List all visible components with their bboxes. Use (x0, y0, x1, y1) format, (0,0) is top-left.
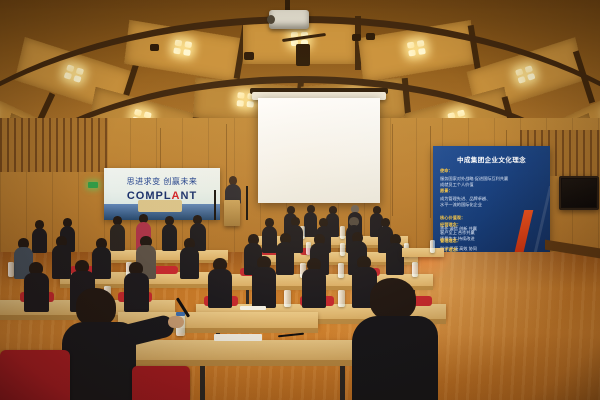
table-row (402, 248, 444, 257)
culture-philosophy-banner: 中成集团企业文化理念 使命： 服务国家对外战略 促进国际互利共赢 成就员工个人价… (433, 146, 550, 256)
banner-block: 愿景： 成为管理先进、品牌卓越、 水平一流的国际化企业 (440, 188, 545, 208)
ceiling-spotlight (366, 33, 375, 40)
ceiling-spotlight (244, 52, 254, 60)
attendee (252, 256, 276, 306)
notebook (214, 334, 262, 341)
complant-banner: 思进求变 创赢未来 COMPLANT (104, 168, 220, 220)
microphone-stand (214, 190, 216, 220)
logo-part-2: NT (181, 190, 198, 202)
table-row (130, 340, 360, 360)
block-heading: 愿景： (440, 188, 545, 194)
chair (132, 366, 190, 400)
attendee (208, 258, 232, 306)
water-bottle (412, 262, 418, 277)
table-leg (340, 366, 345, 400)
water-bottle (284, 290, 291, 307)
block-heading: 核心价值观： (440, 215, 465, 221)
attendee (32, 220, 47, 252)
ceiling-speaker (296, 44, 310, 66)
projection-screen (258, 98, 380, 203)
attendee (302, 258, 326, 306)
attendee (24, 262, 49, 310)
attendee-hand (168, 316, 184, 328)
water-bottle (340, 226, 345, 239)
attendee (262, 218, 277, 252)
acoustic-slat-panel-left (0, 118, 108, 172)
wall-seam (392, 124, 393, 216)
attendee (180, 238, 199, 278)
table-leg (200, 366, 205, 400)
attendee-foreground-right (352, 278, 438, 400)
auditorium-photo: 思进求变 创赢未来 COMPLANT 中成集团企业文化理念 使命： 服务国家对外… (0, 0, 600, 400)
water-bottle (340, 243, 345, 256)
attendee (52, 236, 71, 278)
monitor-screen (562, 179, 596, 207)
banner-title: 中成集团企业文化理念 (433, 154, 550, 164)
projector-lens (267, 15, 275, 24)
water-bottle (430, 240, 435, 253)
banner-photo-element (138, 200, 182, 212)
banner-block: 使命： 服务国家对外战略 促进国际互利共赢 成就员工个人价值 (440, 168, 545, 188)
block-heading: 经营理念： (440, 222, 545, 228)
chair (0, 350, 70, 400)
notebook (240, 306, 266, 310)
podium (224, 200, 240, 226)
microphone-stand (246, 186, 248, 220)
block-heading: 管理理念： (440, 238, 545, 244)
water-bottle (8, 262, 14, 277)
attendee (276, 233, 294, 274)
attendee (162, 216, 177, 250)
exit-sign-icon (88, 182, 98, 188)
wall-mounted-monitor (559, 176, 599, 210)
projector-body (269, 10, 309, 29)
ceiling-spotlight (150, 44, 159, 51)
presenter (225, 176, 241, 202)
ceiling-spotlight (352, 34, 361, 41)
banner-slogan: 思进求变 创赢未来 (104, 176, 220, 187)
attendee (110, 216, 125, 250)
water-bottle (338, 263, 344, 278)
block-heading: 使命： (440, 168, 545, 174)
projector-icon (265, 0, 313, 34)
water-bottle (338, 290, 345, 307)
wall-seam (430, 126, 431, 218)
